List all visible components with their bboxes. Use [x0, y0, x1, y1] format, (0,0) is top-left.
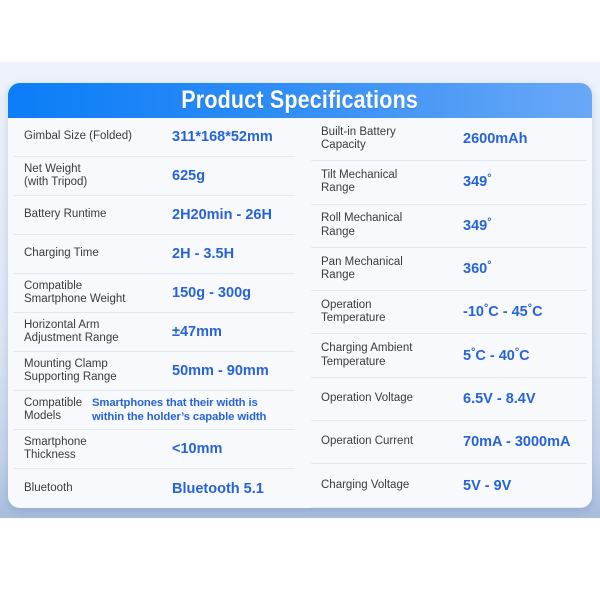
spec-value: 50mm - 90mm	[172, 363, 295, 379]
spec-value: 150g - 300g	[172, 285, 295, 301]
spec-row: Smartphone Thickness<10mm	[14, 430, 295, 469]
spec-label: Operation Temperature	[311, 299, 463, 326]
spec-label: Operation Current	[311, 435, 463, 449]
spec-label: Net Weight (with Tripod)	[14, 163, 172, 190]
card-header: Product Specifications	[8, 83, 592, 118]
spec-value: 2600mAh	[463, 131, 586, 147]
spec-label: Gimbal Size (Folded)	[14, 130, 172, 144]
spec-value: <10mm	[172, 441, 295, 457]
spec-columns: Gimbal Size (Folded)311*168*52mmNet Weig…	[8, 118, 592, 508]
spec-row: Compatible Smartphone Weight150g - 300g	[14, 274, 295, 313]
spec-label: Bluetooth	[14, 482, 172, 496]
spec-row: Pan Mechanical Range360°	[311, 248, 586, 291]
spec-label: Smartphone Thickness	[14, 436, 172, 463]
spec-value: -10°C - 45°C	[463, 304, 586, 320]
spec-value: 625g	[172, 168, 295, 184]
spec-value: ±47mm	[172, 324, 295, 340]
spec-label: Mounting Clamp Supporting Range	[14, 358, 172, 385]
spec-value: 5V - 9V	[463, 478, 586, 494]
spec-label: Tilt Mechanical Range	[311, 169, 463, 196]
spec-row: Charging Ambient Temperature5°C - 40°C	[311, 334, 586, 377]
spec-row: Compatible ModelsSmartphones that their …	[14, 391, 295, 430]
spec-row: Horizontal Arm Adjustment Range±47mm	[14, 313, 295, 352]
spec-label: Battery Runtime	[14, 208, 172, 222]
spec-label: Operation Voltage	[311, 392, 463, 406]
spec-row: Operation Voltage6.5V - 8.4V	[311, 378, 586, 421]
specifications-card: Product Specifications Gimbal Size (Fold…	[8, 83, 592, 508]
spec-value: 6.5V - 8.4V	[463, 391, 586, 407]
spec-row: Battery Runtime2H20min - 26H	[14, 196, 295, 235]
spec-value: 360°	[463, 261, 586, 277]
spec-value: Smartphones that their width is within t…	[92, 396, 295, 424]
spec-column-right: Built-in Battery Capacity2600mAhTilt Mec…	[303, 118, 592, 508]
page-root: Product Specifications Gimbal Size (Fold…	[0, 0, 600, 600]
spec-value: 5°C - 40°C	[463, 348, 586, 364]
spec-row: BluetoothBluetooth 5.1	[14, 469, 295, 508]
spec-row: Roll Mechanical Range349°	[311, 205, 586, 248]
spec-value: Bluetooth 5.1	[172, 481, 295, 497]
spec-row: Charging Time2H - 3.5H	[14, 235, 295, 274]
spec-row: Charging Voltage5V - 9V	[311, 464, 586, 507]
spec-row: Built-in Battery Capacity2600mAh	[311, 118, 586, 161]
spec-label: Compatible Models	[14, 397, 92, 424]
spec-row: Net Weight (with Tripod)625g	[14, 157, 295, 196]
spec-value: 349°	[463, 218, 586, 234]
spec-value: 2H20min - 26H	[172, 207, 295, 223]
page-title: Product Specifications	[182, 86, 419, 115]
spec-label: Charging Time	[14, 247, 172, 261]
spec-row: Gimbal Size (Folded)311*168*52mm	[14, 118, 295, 157]
spec-value: 2H - 3.5H	[172, 246, 295, 262]
spec-row: Mounting Clamp Supporting Range50mm - 90…	[14, 352, 295, 391]
spec-label: Built-in Battery Capacity	[311, 126, 463, 153]
spec-label: Compatible Smartphone Weight	[14, 280, 172, 307]
spec-row: Operation Temperature-10°C - 45°C	[311, 291, 586, 334]
spec-value: 349°	[463, 174, 586, 190]
spec-label: Charging Voltage	[311, 479, 463, 493]
spec-label: Horizontal Arm Adjustment Range	[14, 319, 172, 346]
spec-column-left: Gimbal Size (Folded)311*168*52mmNet Weig…	[8, 118, 303, 508]
spec-row: Operation Current70mA - 3000mA	[311, 421, 586, 464]
spec-label: Roll Mechanical Range	[311, 212, 463, 239]
spec-value: 70mA - 3000mA	[463, 434, 586, 450]
spec-value: 311*168*52mm	[172, 129, 295, 145]
spec-row: Tilt Mechanical Range349°	[311, 161, 586, 204]
spec-label: Charging Ambient Temperature	[311, 342, 463, 369]
spec-label: Pan Mechanical Range	[311, 256, 463, 283]
